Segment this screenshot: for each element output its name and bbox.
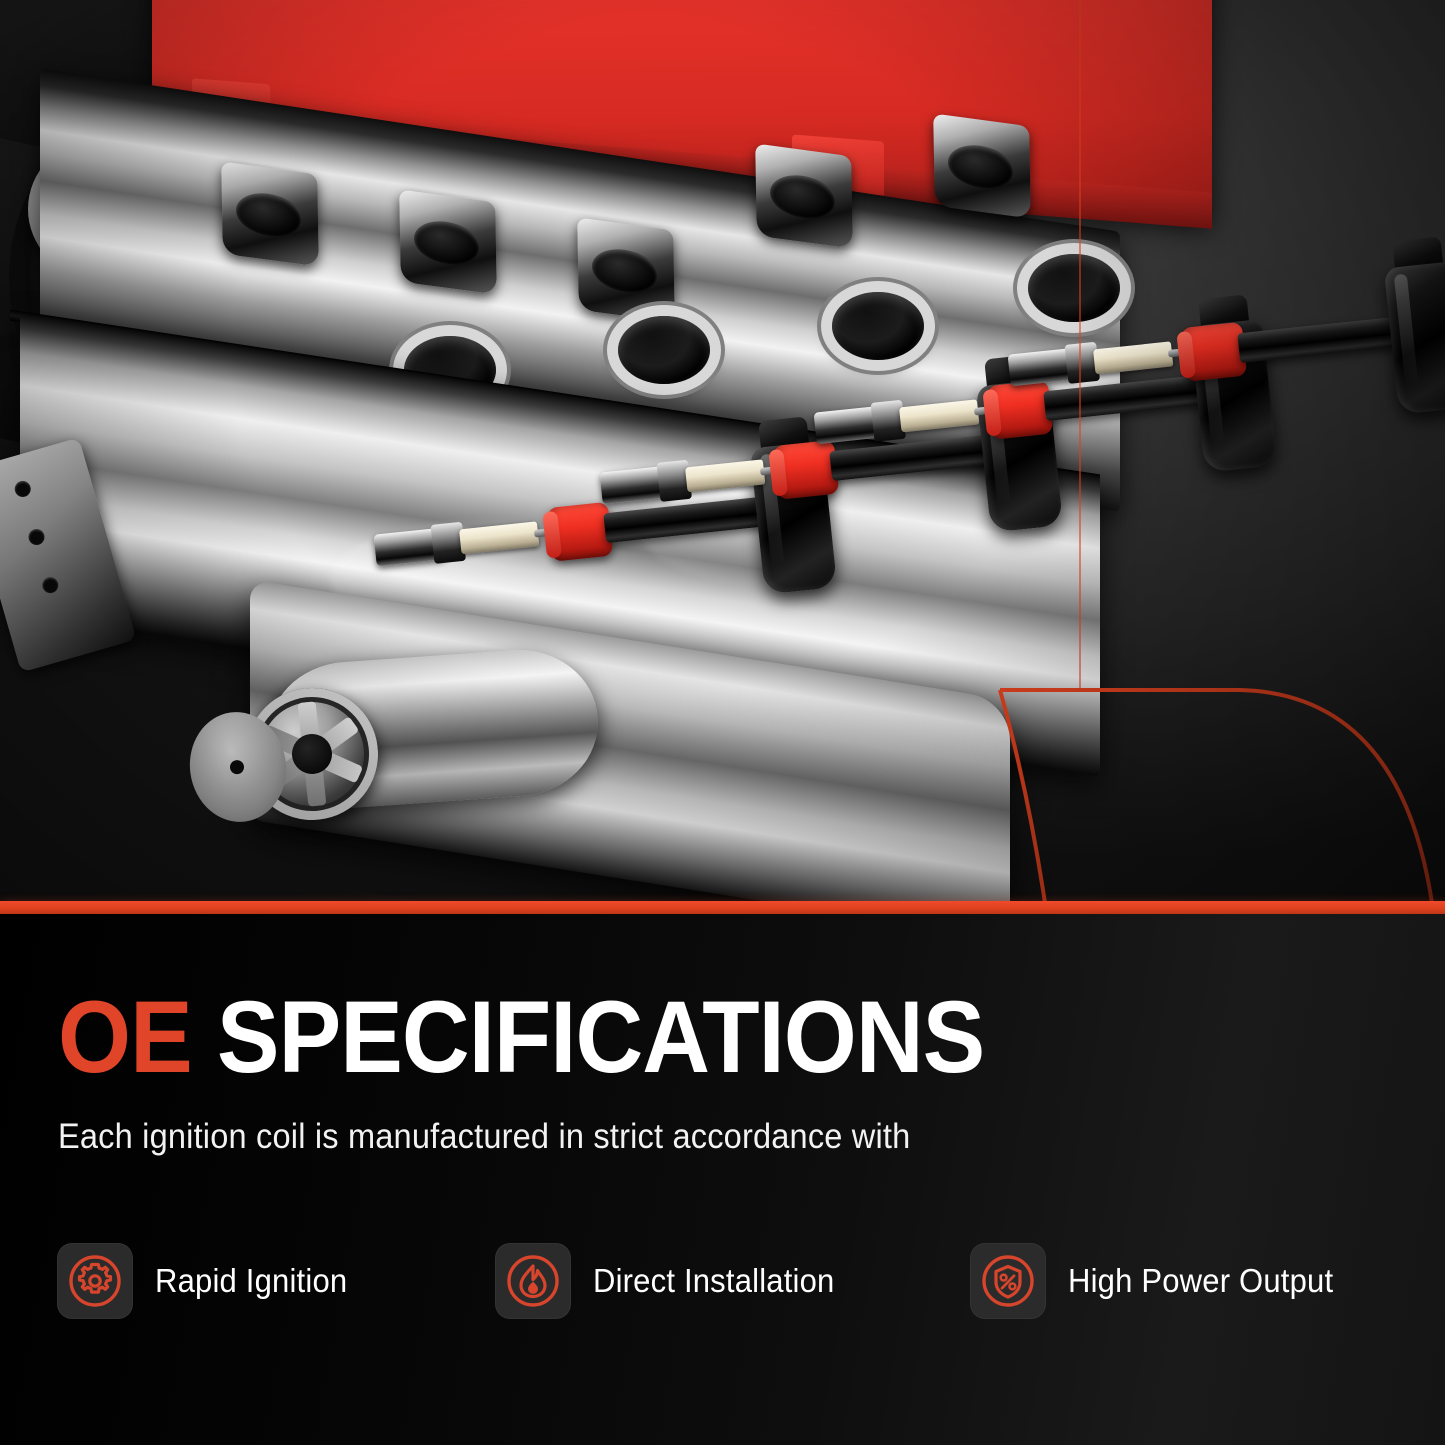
badge-icon-box — [970, 1243, 1046, 1319]
engine-hero-photo — [0, 0, 1445, 903]
page-title: OE SPECIFICATIONS — [58, 986, 984, 1088]
badge-label: High Power Output — [1068, 1262, 1333, 1300]
feature-badge: High Power Output — [970, 1243, 1350, 1319]
feature-badge: Rapid Ignition — [57, 1243, 360, 1319]
photo-vignette — [0, 0, 1445, 903]
feature-badge: Direct Installation — [495, 1243, 850, 1319]
feature-badge-list: Rapid Ignition Direct Installation — [0, 1243, 1445, 1348]
flame-icon — [506, 1254, 560, 1308]
shield-percent-icon — [981, 1254, 1035, 1308]
product-feature-banner: OE SPECIFICATIONS Each ignition coil is … — [0, 0, 1445, 1445]
badge-icon-box — [495, 1243, 571, 1319]
title-rest: SPECIFICATIONS — [192, 980, 985, 1094]
gear-icon — [68, 1254, 122, 1308]
title-accent-word: OE — [58, 980, 192, 1094]
subtitle: Each ignition coil is manufactured in st… — [58, 1117, 910, 1157]
badge-label: Rapid Ignition — [155, 1262, 347, 1300]
badge-icon-box — [57, 1243, 133, 1319]
accent-divider — [0, 901, 1445, 914]
badge-label: Direct Installation — [593, 1262, 835, 1300]
